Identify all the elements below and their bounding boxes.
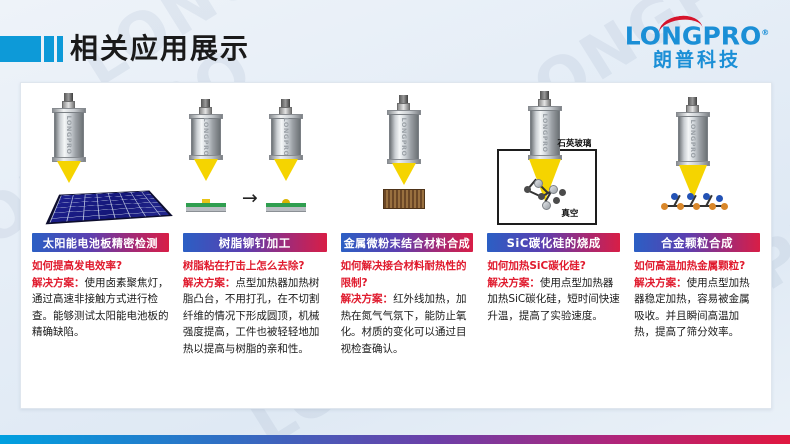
illustration-metal-powder	[339, 89, 476, 229]
column-description: 如何高温加热金属颗粒? 解决方案：使用点型加热器稳定加热，容易被金属吸收。并且瞬…	[632, 258, 762, 341]
column-label-bar: 太阳能电池板精密检测	[32, 233, 169, 252]
process-arrow-icon: →	[242, 187, 258, 209]
column-question: 树脂粘在打击上怎么去除?	[183, 258, 327, 275]
atom	[553, 197, 560, 204]
atom	[559, 189, 566, 196]
solar-panel-graphic	[46, 190, 173, 224]
application-column-solar-panel-inspection[interactable]: 太阳能电池板精密检测 如何提高发电效率? 解决方案：使用卤素聚焦灯，通过高速非接…	[25, 89, 176, 408]
application-column-resin-rivet-processing[interactable]: → 树脂铆钉加工 树脂粘在打击上怎么去除? 解决方案：点型	[176, 89, 334, 408]
atom-blue	[716, 195, 723, 202]
application-column-alloy-particle-synthesis[interactable]: 合金颗粒合成 如何高温加热金属颗粒? 解决方案：使用点型加热器稳定加热，容易被金…	[627, 89, 767, 408]
column-label-bar: 合金颗粒合成	[634, 233, 760, 252]
annotation-quartz-glass: 石英玻璃	[557, 137, 591, 149]
workpiece-base-layer	[186, 207, 226, 212]
accent-bar-2	[44, 36, 54, 62]
column-description: 如何解决接合材料耐热性的限制? 解决方案：红外线加热，加热在氮气气氛下，能防止氧…	[339, 258, 476, 357]
light-beam-icon	[194, 159, 218, 181]
title-accent-bars-icon	[0, 36, 63, 62]
workpiece-base-layer	[266, 207, 306, 212]
metal-powder-block	[383, 189, 425, 209]
light-beam-icon	[57, 161, 81, 183]
logo-wordmark-tail: O	[740, 21, 761, 50]
lamp-body	[191, 118, 221, 156]
atom-orange	[693, 203, 700, 210]
lamp-body	[389, 114, 419, 160]
column-question: 如何解决接合材料耐热性的限制?	[341, 258, 474, 291]
lamp-body	[678, 116, 708, 162]
lamp-body	[54, 112, 84, 158]
lamp-body	[271, 118, 301, 156]
page-title: 相关应用展示	[70, 28, 250, 70]
sic-crystal-lattice-icon	[523, 181, 567, 207]
accent-bar-1	[0, 36, 41, 62]
atom-orange	[709, 203, 716, 210]
logo-wordmark: LONGPRO®	[622, 20, 772, 49]
lamp-body	[530, 110, 560, 156]
illustration-alloy-particles	[632, 89, 762, 229]
light-beam-icon	[274, 159, 298, 181]
column-question: 如何提高发电效率?	[32, 258, 169, 275]
brand-logo: LONGPRO® 朗普科技	[622, 20, 772, 72]
column-description: 如何加热SiC碳化硅? 解决方案：使用点型加热器加热SiC碳化硅，短时间快速升温…	[485, 258, 622, 324]
logo-chinese-name: 朗普科技	[622, 49, 772, 71]
column-question: 如何高温加热金属颗粒?	[634, 258, 760, 275]
atom	[549, 185, 558, 194]
application-column-sic-sintering[interactable]: 石英玻璃 真空 SiC碳化硅的烧成	[480, 89, 627, 408]
application-columns: 太阳能电池板精密检测 如何提高发电效率? 解决方案：使用卤素聚焦灯，通过高速非接…	[21, 83, 771, 408]
atom-orange	[661, 203, 668, 210]
atom-orange	[721, 203, 728, 210]
illustration-solar-panel	[30, 89, 171, 229]
annotation-vacuum: 真空	[561, 207, 578, 219]
solution-keyword: 解决方案：	[634, 277, 687, 289]
solution-keyword: 解决方案：	[341, 293, 394, 305]
column-label-bar: 树脂铆钉加工	[183, 233, 327, 252]
solution-keyword: 解决方案：	[487, 277, 540, 289]
column-description: 如何提高发电效率? 解决方案：使用卤素聚焦灯，通过高速非接触方式进行检查。能够测…	[30, 258, 171, 341]
column-description: 树脂粘在打击上怎么去除? 解决方案：点型加热器加热树脂凸台，不用打孔，在不切割纤…	[181, 258, 329, 357]
footer-gradient-bar	[0, 435, 790, 444]
illustration-sic-chamber: 石英玻璃 真空	[485, 89, 622, 229]
atom-orange	[677, 203, 684, 210]
logo-registered-mark: ®	[761, 28, 769, 37]
light-beam-icon	[392, 163, 416, 185]
column-label-bar: SiC碳化硅的烧成	[487, 233, 620, 252]
column-question: 如何加热SiC碳化硅?	[487, 258, 620, 275]
accent-bar-3	[57, 36, 63, 62]
content-card: 太阳能电池板精密检测 如何提高发电效率? 解决方案：使用卤素聚焦灯，通过高速非接…	[20, 82, 772, 409]
solution-keyword: 解决方案：	[183, 277, 236, 289]
application-column-metal-powder-bonding[interactable]: 金属微粉末结合材料合成 如何解决接合材料耐热性的限制? 解决方案：红外线加热，加…	[334, 89, 481, 408]
solution-keyword: 解决方案：	[32, 277, 85, 289]
alloy-molecule-cluster-icon	[656, 193, 732, 215]
illustration-resin-rivet: →	[181, 89, 329, 229]
column-label-bar: 金属微粉末结合材料合成	[341, 233, 474, 252]
